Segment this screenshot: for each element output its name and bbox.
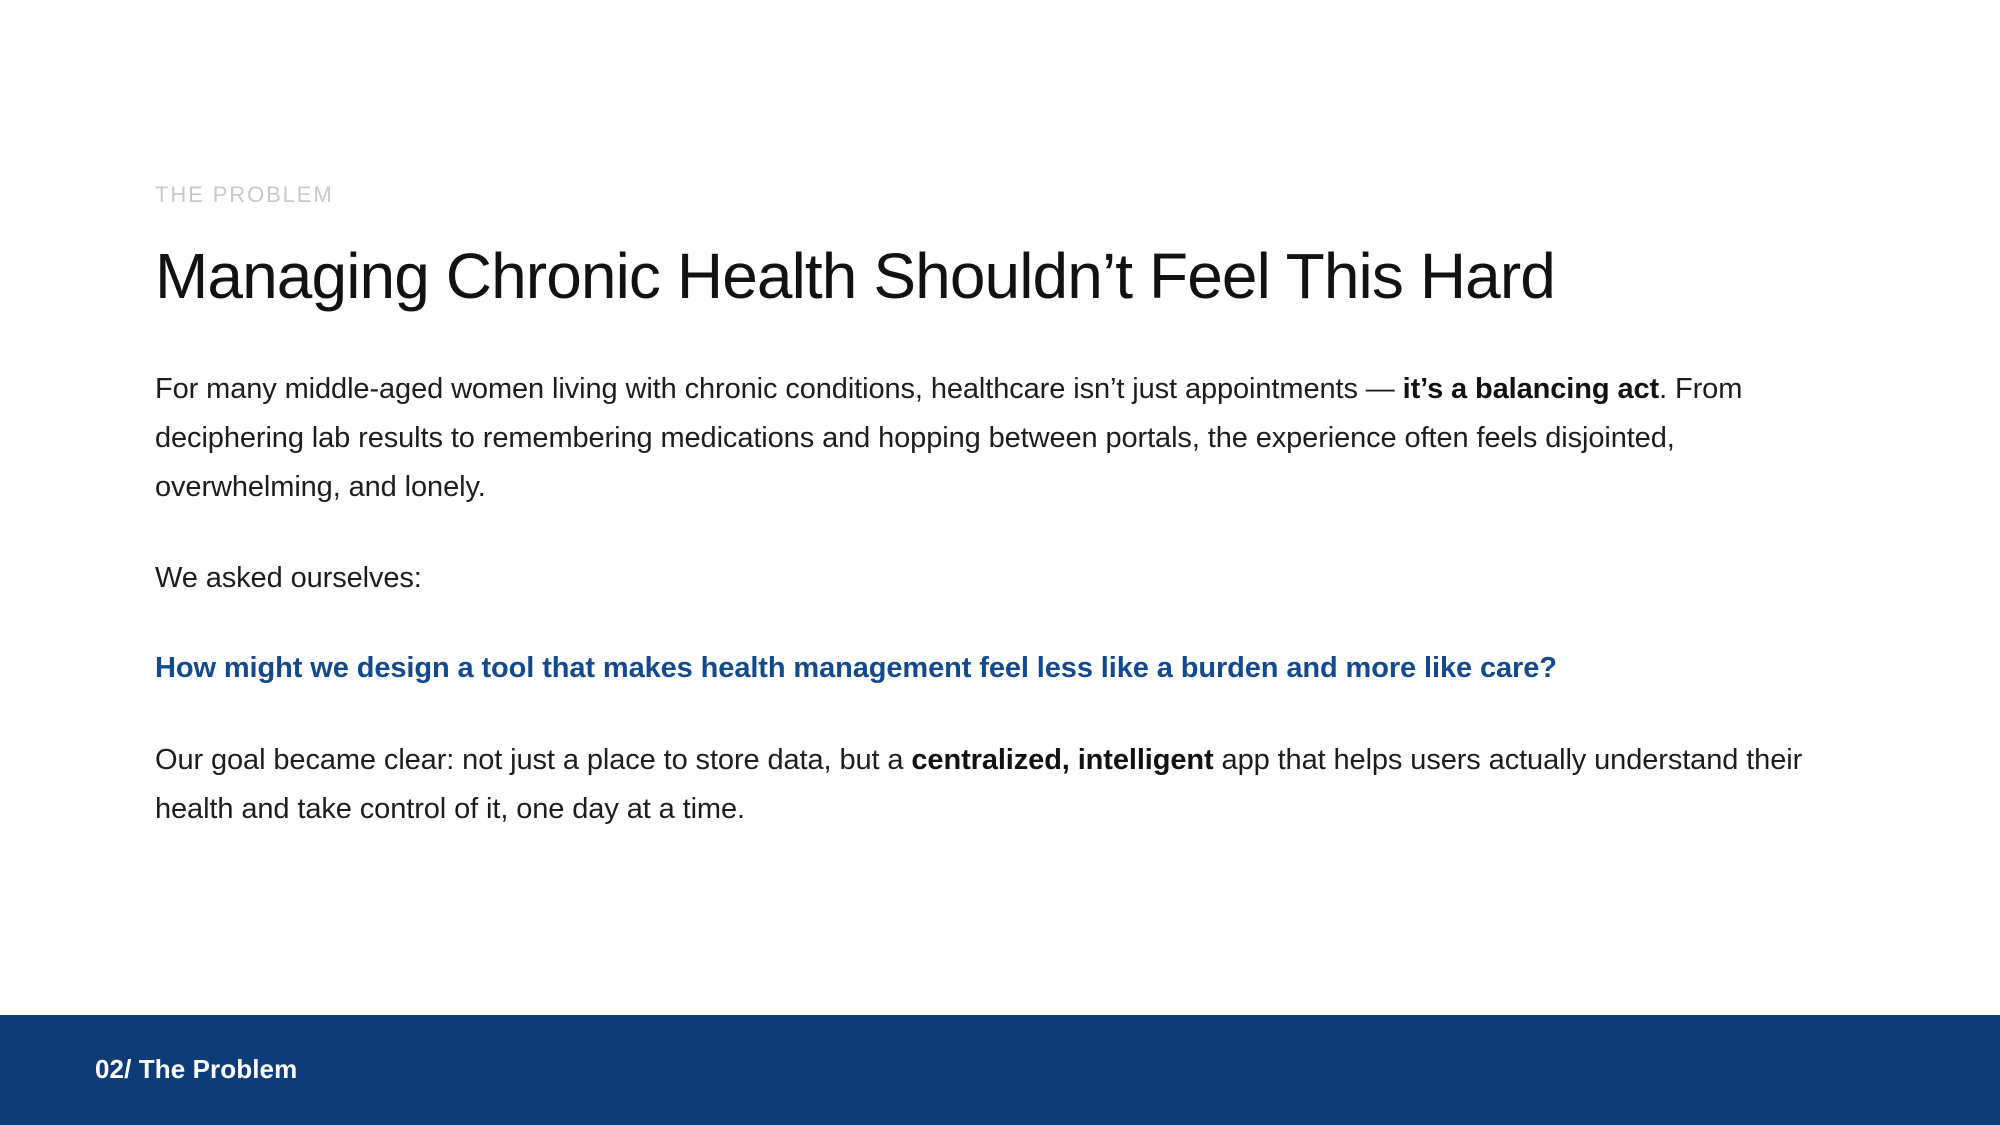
slide-footer-bar: 02/ The Problem [0, 1015, 2000, 1125]
section-eyebrow: THE PROBLEM [155, 182, 1827, 208]
spacer-after-paragraph-1 [155, 511, 1827, 554]
paragraph-2-part-1: Our goal became clear: not just a place … [155, 744, 911, 776]
paragraph-goal-statement: Our goal became clear: not just a place … [155, 736, 1827, 833]
page-title: Managing Chronic Health Shouldn’t Feel T… [155, 241, 1827, 313]
spacer-after-question [155, 690, 1827, 736]
paragraph-problem-statement: For many middle-aged women living with c… [155, 365, 1827, 511]
body-copy: For many middle-aged women living with c… [155, 365, 1827, 834]
slide-the-problem: THE PROBLEM Managing Chronic Health Shou… [0, 0, 2000, 1125]
slide-content: THE PROBLEM Managing Chronic Health Shou… [155, 182, 1827, 834]
how-might-we-question: How might we design a tool that makes he… [155, 647, 1827, 691]
paragraph-1-emphasis: it’s a balancing act [1403, 373, 1659, 405]
footer-section-label: 02/ The Problem [95, 1054, 297, 1085]
paragraph-1-part-1: For many middle-aged women living with c… [155, 373, 1403, 405]
paragraph-2-emphasis: centralized, intelligent [911, 744, 1213, 776]
paragraph-lead-in: We asked ourselves: [155, 554, 1827, 603]
spacer-before-question [155, 603, 1827, 647]
